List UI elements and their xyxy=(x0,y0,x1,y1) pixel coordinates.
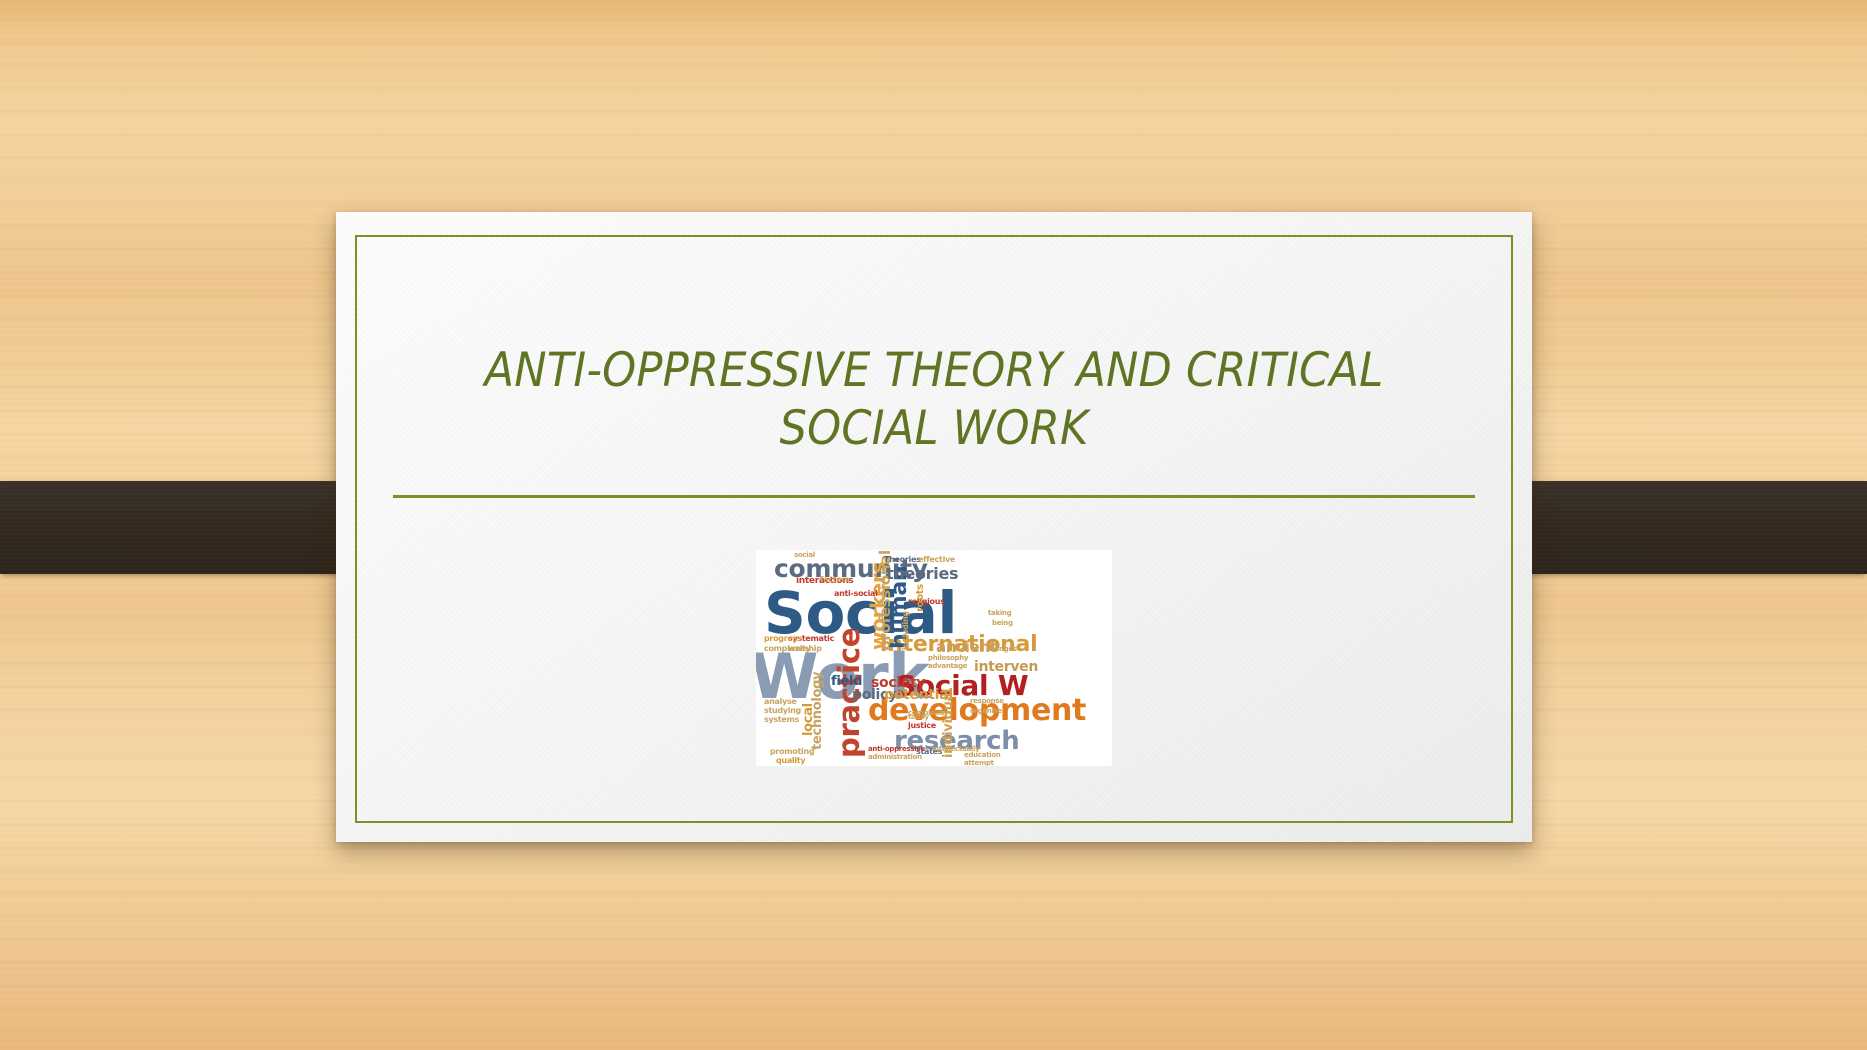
wordcloud-word: taking xyxy=(988,610,1011,617)
wordcloud-word: roots xyxy=(916,584,926,612)
title-block: ANTI-OPPRESSIVE THEORY AND CRITICAL SOCI… xyxy=(376,342,1492,498)
wordcloud-word: including xyxy=(902,611,910,650)
wordcloud-word: advantage xyxy=(928,663,967,670)
wordcloud-word: promoting xyxy=(770,748,814,756)
wordcloud-word: studying xyxy=(764,707,801,715)
wordcloud-word: quality xyxy=(776,757,805,765)
presentation-stage: ANTI-OPPRESSIVE THEORY AND CRITICAL SOCI… xyxy=(0,0,1867,1050)
wordcloud-word: today xyxy=(908,714,929,721)
wordcloud-image: communitySocialWorkpracticedevelopmentin… xyxy=(756,550,1112,766)
page-title: ANTI-OPPRESSIVE THEORY AND CRITICAL SOCI… xyxy=(421,342,1448,458)
decorative-band-right xyxy=(1477,481,1867,574)
decorative-band-left xyxy=(0,481,390,574)
wordcloud-word: anti-social xyxy=(834,590,878,598)
wordcloud-word: factors xyxy=(820,576,850,584)
wordcloud-word: education xyxy=(964,752,1000,759)
title-divider-rule xyxy=(393,495,1475,498)
wordcloud-word: attempt xyxy=(964,760,994,766)
wordcloud-word: interven xyxy=(974,660,1038,674)
wordcloud-word: response xyxy=(970,698,1004,705)
wordcloud-word: theories xyxy=(886,566,958,582)
wordcloud-word: justice xyxy=(908,722,936,730)
wordcloud-word: field xyxy=(831,675,862,688)
wordcloud-word: progress xyxy=(764,635,801,643)
wordcloud-word: administration xyxy=(868,754,922,761)
wordcloud-word: analyse xyxy=(764,698,797,706)
wordcloud-word: Theories xyxy=(884,556,921,564)
wordcloud-word: systems xyxy=(764,716,799,724)
wordcloud-word: religious xyxy=(908,598,945,606)
wordcloud-word: changes xyxy=(986,646,1017,653)
wordcloud-word: philosophy xyxy=(928,655,968,662)
wordcloud-canvas: communitySocialWorkpracticedevelopmentin… xyxy=(756,550,1112,766)
wordcloud-word: social xyxy=(794,552,815,559)
wordcloud-word: anti-oppressive xyxy=(868,746,925,753)
wordcloud-word: local xyxy=(802,703,815,736)
title-slide: ANTI-OPPRESSIVE THEORY AND CRITICAL SOCI… xyxy=(336,212,1532,842)
wordcloud-word: complexity xyxy=(764,645,810,653)
wordcloud-word: organise xyxy=(970,708,1002,715)
wordcloud-word: being xyxy=(992,620,1013,627)
wordcloud-word: effective xyxy=(918,556,955,564)
